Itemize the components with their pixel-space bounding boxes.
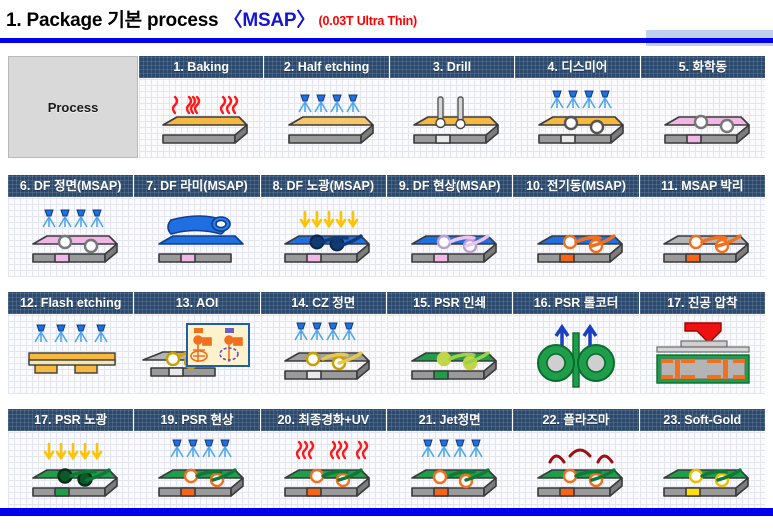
jet-clean-icon bbox=[387, 431, 512, 511]
process-step-illustration bbox=[8, 197, 133, 277]
process-step-cell[interactable]: 14. CZ 정면 bbox=[260, 292, 386, 394]
df-lami-icon bbox=[134, 197, 259, 277]
process-step-cell[interactable]: 1. Baking bbox=[138, 56, 263, 158]
drill-icon bbox=[390, 78, 514, 158]
process-step-header: 23. Soft-Gold bbox=[640, 409, 765, 431]
page-title-subtitle: (0.03T Ultra Thin) bbox=[315, 14, 417, 28]
process-step-header: 9. DF 현상(MSAP) bbox=[387, 175, 512, 197]
process-step-header: 13. AOI bbox=[134, 292, 259, 314]
title-bar: 1. Package 기본 process 〈MSAP〉 (0.03T Ultr… bbox=[0, 0, 773, 40]
process-step-header: 16. PSR 롤코터 bbox=[513, 292, 638, 314]
process-step-illustration bbox=[8, 314, 133, 394]
process-step-cell[interactable]: 22. 플라즈마 bbox=[512, 409, 638, 511]
process-legend-cell: Process bbox=[8, 56, 138, 158]
soft-gold-icon bbox=[640, 431, 765, 511]
process-step-header: 17. PSR 노광 bbox=[8, 409, 133, 431]
df-develop-icon bbox=[387, 197, 512, 277]
process-step-header: 4. 디스미어 bbox=[515, 56, 639, 78]
psr-print-icon bbox=[387, 314, 512, 394]
process-step-illustration bbox=[139, 78, 263, 158]
process-step-header: 2. Half etching bbox=[264, 56, 388, 78]
plating-icon bbox=[513, 197, 638, 277]
process-step-cell[interactable]: 15. PSR 인쇄 bbox=[386, 292, 512, 394]
final-cure-uv-icon bbox=[261, 431, 386, 511]
process-step-cell[interactable]: 4. 디스미어 bbox=[514, 56, 639, 158]
process-step-header: 7. DF 라미(MSAP) bbox=[134, 175, 259, 197]
process-step-cell[interactable]: 7. DF 라미(MSAP) bbox=[133, 175, 259, 277]
process-step-cell[interactable]: 23. Soft-Gold bbox=[639, 409, 765, 511]
process-step-illustration bbox=[640, 314, 765, 394]
process-step-illustration bbox=[515, 78, 639, 158]
process-legend-label: Process bbox=[8, 56, 138, 158]
process-step-illustration bbox=[264, 78, 388, 158]
cz-clean-icon bbox=[261, 314, 386, 394]
process-step-illustration bbox=[134, 431, 259, 511]
process-step-illustration bbox=[261, 431, 386, 511]
process-step-illustration bbox=[8, 431, 133, 511]
process-step-illustration bbox=[513, 197, 638, 277]
process-step-illustration bbox=[387, 314, 512, 394]
df-clean-icon bbox=[8, 197, 133, 277]
process-step-illustration bbox=[390, 78, 514, 158]
vacuum-press-icon bbox=[640, 314, 765, 394]
process-step-header: 19. PSR 현상 bbox=[134, 409, 259, 431]
process-step-cell[interactable]: 5. 화학동 bbox=[640, 56, 765, 158]
page-title-msap: 〈MSAP〉 bbox=[224, 10, 316, 31]
chemical-cu-icon bbox=[641, 78, 765, 158]
process-step-illustration bbox=[513, 431, 638, 511]
process-step-header: 5. 화학동 bbox=[641, 56, 765, 78]
baking-icon bbox=[139, 78, 263, 158]
process-step-cell[interactable]: 11. MSAP 박리 bbox=[639, 175, 765, 277]
flash-etching-icon bbox=[8, 314, 133, 394]
process-step-header: 12. Flash etching bbox=[8, 292, 133, 314]
process-row-3: 12. Flash etching 13. AOI bbox=[8, 292, 765, 394]
process-step-header: 8. DF 노광(MSAP) bbox=[261, 175, 386, 197]
desmear-icon bbox=[515, 78, 639, 158]
process-row-1: Process1. Baking 2. Half etching bbox=[8, 56, 765, 158]
process-step-illustration bbox=[640, 431, 765, 511]
title-divider-rule bbox=[0, 38, 773, 43]
psr-rollcoater-icon bbox=[513, 314, 638, 394]
process-step-header: 11. MSAP 박리 bbox=[640, 175, 765, 197]
process-step-illustration bbox=[640, 197, 765, 277]
strip-icon bbox=[640, 197, 765, 277]
psr-expose-icon bbox=[8, 431, 133, 511]
process-step-illustration bbox=[513, 314, 638, 394]
process-step-illustration bbox=[134, 197, 259, 277]
process-step-cell[interactable]: 21. Jet정면 bbox=[386, 409, 512, 511]
process-step-illustration bbox=[387, 197, 512, 277]
process-step-header: 17. 진공 압착 bbox=[640, 292, 765, 314]
process-step-cell[interactable]: 20. 최종경화+UV bbox=[260, 409, 386, 511]
process-step-header: 22. 플라즈마 bbox=[513, 409, 638, 431]
page-title-main: 1. Package 기본 process bbox=[6, 10, 224, 31]
process-step-cell[interactable]: 16. PSR 롤코터 bbox=[512, 292, 638, 394]
process-step-cell[interactable]: 13. AOI bbox=[133, 292, 259, 394]
process-step-header: 14. CZ 정면 bbox=[261, 292, 386, 314]
half-etching-icon bbox=[264, 78, 388, 158]
process-step-cell[interactable]: 17. 진공 압착 bbox=[639, 292, 765, 394]
page-title: 1. Package 기본 process 〈MSAP〉 (0.03T Ultr… bbox=[6, 5, 417, 32]
process-step-header: 3. Drill bbox=[390, 56, 514, 78]
process-step-cell[interactable]: 8. DF 노광(MSAP) bbox=[260, 175, 386, 277]
process-step-cell[interactable]: 10. 전기동(MSAP) bbox=[512, 175, 638, 277]
process-step-illustration bbox=[261, 314, 386, 394]
process-step-illustration bbox=[641, 78, 765, 158]
process-row-2: 6. DF 정면(MSAP) 7. DF 라미(MSAP) bbox=[8, 175, 765, 277]
plasma-icon bbox=[513, 431, 638, 511]
process-step-header: 6. DF 정면(MSAP) bbox=[8, 175, 133, 197]
process-step-cell[interactable]: 19. PSR 현상 bbox=[133, 409, 259, 511]
process-step-illustration bbox=[387, 431, 512, 511]
process-step-header: 20. 최종경화+UV bbox=[261, 409, 386, 431]
process-step-cell[interactable]: 2. Half etching bbox=[263, 56, 388, 158]
process-step-cell[interactable]: 9. DF 현상(MSAP) bbox=[386, 175, 512, 277]
process-step-cell[interactable]: 17. PSR 노광 bbox=[8, 409, 133, 511]
df-expose-icon bbox=[261, 197, 386, 277]
process-step-header: 10. 전기동(MSAP) bbox=[513, 175, 638, 197]
bottom-divider-rule bbox=[0, 508, 773, 516]
process-row-4: 17. PSR 노광 19. PSR 현상 bbox=[8, 409, 765, 511]
process-step-illustration bbox=[134, 314, 259, 394]
process-step-cell[interactable]: 12. Flash etching bbox=[8, 292, 133, 394]
process-step-header: 15. PSR 인쇄 bbox=[387, 292, 512, 314]
process-step-header: 21. Jet정면 bbox=[387, 409, 512, 431]
aoi-icon bbox=[134, 314, 259, 394]
process-step-cell[interactable]: 6. DF 정면(MSAP) bbox=[8, 175, 133, 277]
process-step-cell[interactable]: 3. Drill bbox=[389, 56, 514, 158]
psr-develop-icon bbox=[134, 431, 259, 511]
process-step-illustration bbox=[261, 197, 386, 277]
process-step-header: 1. Baking bbox=[139, 56, 263, 78]
